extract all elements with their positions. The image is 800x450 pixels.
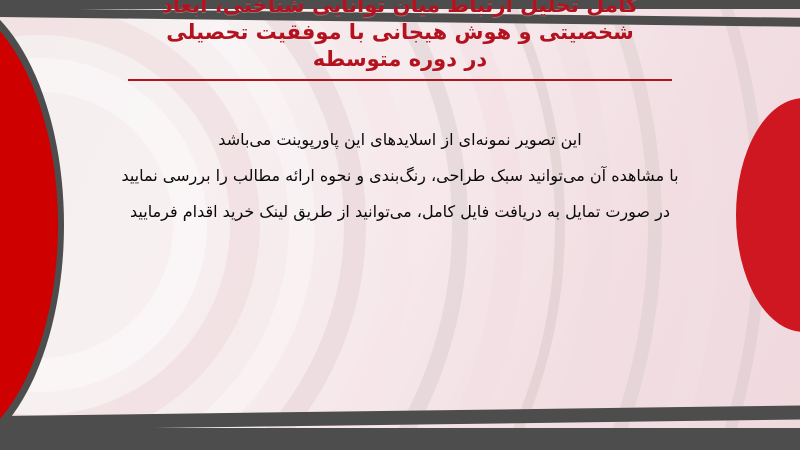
body-line-1: این تصویر نمونه‌ای از اسلایدهای این پاور… [0,122,800,158]
slide-body-text: این تصویر نمونه‌ای از اسلایدهای این پاور… [0,122,800,230]
title-divider-rule [128,79,672,81]
top-dark-bar [0,0,800,9]
presentation-slide: کامل تحلیل ارتباط میان توانایی شناختی، ا… [0,0,800,450]
body-line-2: با مشاهده آن می‌توانید سبک طراحی، رنگ‌بن… [0,158,800,194]
body-line-3: در صورت تمایل به دریافت فایل کامل، می‌تو… [0,194,800,230]
bottom-dark-bar [0,428,800,450]
